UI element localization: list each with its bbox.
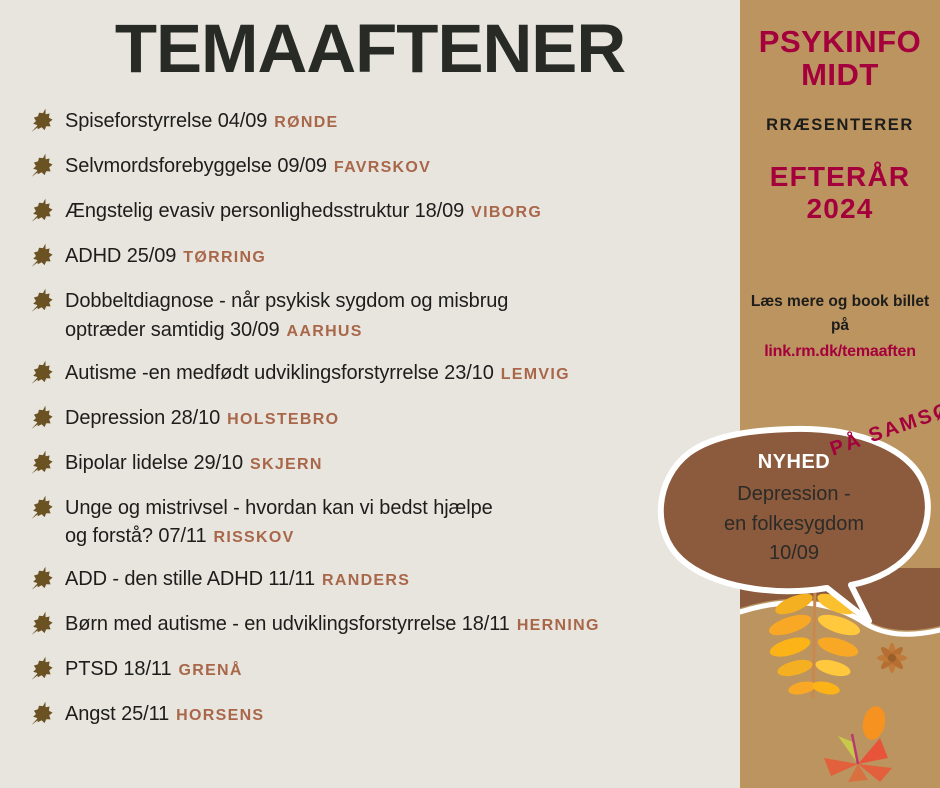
event-title: Selvmordsforebyggelse 09/09 [65, 155, 327, 177]
event-city: RANDERS [322, 572, 410, 589]
event-city: FAVRSKOV [334, 159, 431, 176]
event-title-continuation: og forstå? 07/11 [65, 525, 206, 547]
event-item: Autisme -en medfødt udviklingsforstyrrel… [0, 358, 740, 390]
bubble-line-2: en folkesygdom [689, 510, 899, 540]
pushpin-icon [30, 107, 56, 133]
event-item: ADHD 25/09TØRRING [0, 241, 740, 273]
event-title: Spiseforstyrrelse 04/09 [65, 110, 267, 132]
event-body: Selvmordsforebyggelse 09/09FAVRSKOV [65, 151, 431, 181]
event-title: Ængstelig evasiv personlighedsstruktur 1… [65, 200, 464, 222]
event-list: Spiseforstyrrelse 04/09RØNDESelvmordsfor… [0, 106, 740, 744]
pushpin-icon [30, 700, 56, 726]
pushpin-icon [30, 404, 56, 430]
sidebar-panel: PSYKINFO MIDT RRÆSENTERER EFTERÅR 2024 L… [740, 0, 940, 788]
event-item: Børn med autisme - en udviklingsforstyrr… [0, 609, 740, 641]
news-badge: NYHED [689, 451, 899, 474]
page-title: TEMAAFTENER [0, 14, 740, 83]
event-item: Spiseforstyrrelse 04/09RØNDE [0, 106, 740, 138]
brand-name-line2: MIDT [740, 58, 940, 91]
brand-name-line1: PSYKINFO [740, 25, 940, 58]
poster-canvas: PSYKINFO MIDT RRÆSENTERER EFTERÅR 2024 L… [0, 0, 940, 788]
event-title-continuation: optræder samtidig 30/09 [65, 319, 280, 341]
event-title-line2: og forstå? 07/11RISSKOV [65, 522, 493, 551]
booking-url-link[interactable]: link.rm.dk/temaaften [750, 340, 930, 365]
pushpin-icon [30, 152, 56, 178]
event-city: HORSENS [176, 707, 264, 724]
event-city: RØNDE [274, 114, 338, 131]
event-city: VIBORG [471, 204, 542, 221]
event-item: Selvmordsforebyggelse 09/09FAVRSKOV [0, 151, 740, 183]
event-city: RISSKOV [213, 529, 294, 546]
pushpin-icon [30, 494, 56, 520]
event-city: GRENÅ [178, 662, 242, 679]
event-title: Bipolar lidelse 29/10 [65, 452, 243, 474]
event-body: Spiseforstyrrelse 04/09RØNDE [65, 106, 339, 136]
booking-info: Læs mere og book billet på link.rm.dk/te… [740, 290, 940, 365]
event-title: ADD - den stille ADHD 11/11 [65, 568, 315, 590]
pushpin-icon [30, 287, 56, 313]
event-title: Børn med autisme - en udviklingsforstyrr… [65, 613, 510, 635]
event-body: PTSD 18/11GRENÅ [65, 654, 243, 684]
news-bubble: NYHED Depression - en folkesygdom 10/09 … [655, 425, 940, 640]
event-city: TØRRING [183, 249, 266, 266]
event-city: SKJERN [250, 456, 323, 473]
event-item: Dobbeltdiagnose - når psykisk sygdom og … [0, 286, 740, 345]
star-anise-icon [877, 643, 907, 673]
event-body: ADD - den stille ADHD 11/11RANDERS [65, 564, 410, 594]
event-title: Angst 25/11 [65, 703, 169, 725]
pushpin-icon [30, 359, 56, 385]
event-title: Unge og mistrivsel - hvordan kan vi beds… [65, 497, 493, 519]
event-title: ADHD 25/09 [65, 245, 176, 267]
pushpin-icon [30, 242, 56, 268]
booking-text: Læs mere og book billet på [751, 293, 929, 334]
year-label: 2024 [740, 193, 940, 224]
pushpin-icon [30, 610, 56, 636]
bubble-text-block: NYHED Depression - en folkesygdom 10/09 [689, 451, 899, 569]
event-item: Unge og mistrivsel - hvordan kan vi beds… [0, 493, 740, 552]
event-body: Bipolar lidelse 29/10SKJERN [65, 448, 323, 478]
event-item: PTSD 18/11GRENÅ [0, 654, 740, 686]
event-title: PTSD 18/11 [65, 658, 171, 680]
event-city: AARHUS [287, 323, 363, 340]
pushpin-icon [30, 655, 56, 681]
maple-leaf-icon [824, 734, 892, 782]
event-item: Ængstelig evasiv personlighedsstruktur 1… [0, 196, 740, 228]
event-body: Unge og mistrivsel - hvordan kan vi beds… [65, 493, 493, 552]
bubble-line-3: 10/09 [689, 539, 899, 569]
event-item: Bipolar lidelse 29/10SKJERN [0, 448, 740, 480]
bubble-line-1: Depression - [689, 480, 899, 510]
pushpin-icon [30, 449, 56, 475]
event-item: Angst 25/11HORSENS [0, 699, 740, 731]
event-item: Depression 28/10HOLSTEBRO [0, 403, 740, 435]
event-body: Autisme -en medfødt udviklingsforstyrrel… [65, 358, 570, 388]
event-title: Autisme -en medfødt udviklingsforstyrrel… [65, 362, 494, 384]
event-city: HOLSTEBRO [227, 411, 339, 428]
pushpin-icon [30, 197, 56, 223]
event-body: Børn med autisme - en udviklingsforstyrr… [65, 609, 600, 639]
event-body: ADHD 25/09TØRRING [65, 241, 266, 271]
event-title: Depression 28/10 [65, 407, 220, 429]
event-body: Depression 28/10HOLSTEBRO [65, 403, 339, 433]
event-body: Ængstelig evasiv personlighedsstruktur 1… [65, 196, 542, 226]
pushpin-icon [30, 565, 56, 591]
event-body: Angst 25/11HORSENS [65, 699, 264, 729]
event-body: Dobbeltdiagnose - når psykisk sygdom og … [65, 286, 508, 345]
event-city: LEMVIG [501, 366, 570, 383]
event-city: HERNING [517, 617, 600, 634]
event-item: ADD - den stille ADHD 11/11RANDERS [0, 564, 740, 596]
season-label: EFTERÅR [740, 161, 940, 192]
presents-label: RRÆSENTERER [740, 116, 940, 135]
oval-leaf-icon [860, 704, 889, 742]
event-title-line2: optræder samtidig 30/09AARHUS [65, 316, 508, 345]
event-title: Dobbeltdiagnose - når psykisk sygdom og … [65, 290, 508, 312]
